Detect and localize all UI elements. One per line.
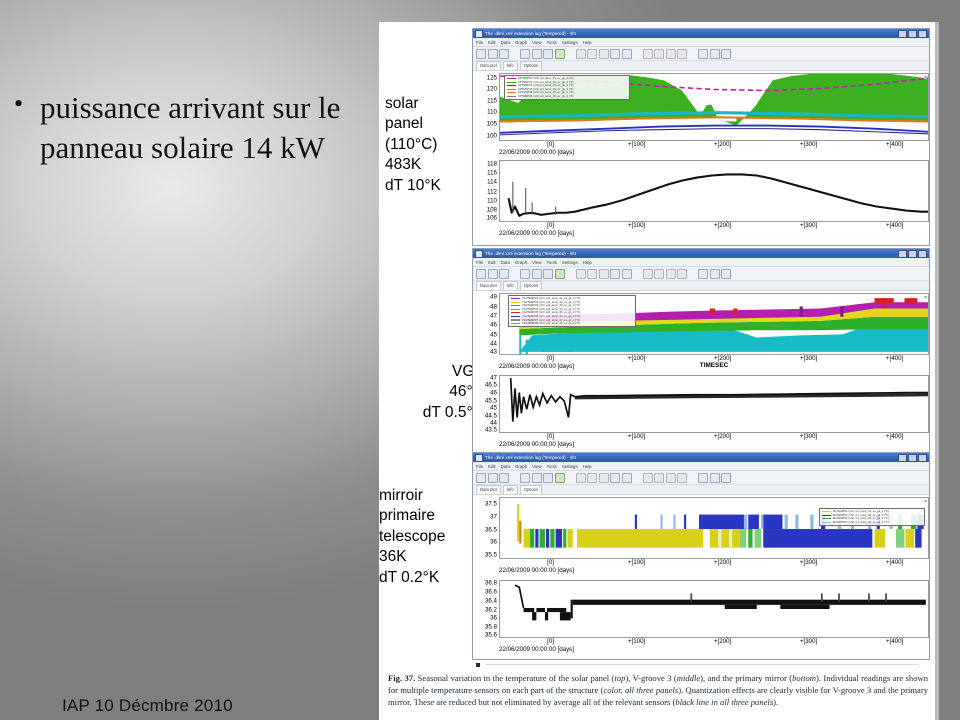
x-tick: +[100] (628, 559, 645, 566)
tab-options[interactable]: Options (520, 61, 542, 70)
zoom-in-icon[interactable] (587, 49, 597, 59)
x-axis-date-label: 22/06/2009 00:00:00 [days] (499, 149, 929, 156)
stripe (546, 529, 549, 548)
tool-bar[interactable] (473, 471, 929, 485)
print-icon[interactable] (499, 49, 509, 59)
menu-item-graph[interactable]: Graph (515, 464, 527, 469)
legend-swatch (511, 323, 520, 324)
toolbar-separator (689, 50, 697, 58)
chart-primary-mirror-average: 36.8 36.6 36.4 36.2 36 35.8 35.6 (473, 580, 929, 638)
strip-line (486, 664, 919, 665)
app-window-vgroove3[interactable]: The .dlm/.xml extension lag (Tempered) -… (472, 248, 930, 456)
yellow-band (567, 529, 572, 548)
toolbar-separator (511, 270, 519, 278)
zoom-in-icon[interactable] (587, 473, 597, 483)
stripe (563, 529, 566, 548)
menu-item-settings[interactable]: Settings (562, 464, 578, 469)
x-tick: +[200] (714, 433, 731, 440)
title-bar[interactable]: The .dlm/.xml extension lag (Tempered) -… (473, 453, 929, 462)
y-tick: 36.5 (485, 527, 497, 534)
minimize-button[interactable] (898, 454, 907, 462)
prev-frame-icon[interactable] (654, 269, 664, 279)
y-tick: 37.5 (485, 501, 497, 508)
toolbar-separator (689, 270, 697, 278)
zoom-out-icon[interactable] (599, 269, 609, 279)
tab-data-plot[interactable]: Data plot (476, 485, 501, 494)
legend-item: M1TEMP03 (mV) m1_temp_03_ev_gk_2 [°K] (822, 517, 922, 520)
yellow-band (906, 529, 915, 548)
menu-item-view[interactable]: View (532, 40, 541, 45)
x-tick: [0] (547, 433, 554, 440)
thin-tick (684, 515, 686, 529)
caption-italic-color: color, all three panels (603, 685, 678, 695)
copy-icon[interactable] (520, 269, 530, 279)
toolbar-separator (566, 270, 574, 278)
legend-swatch (507, 96, 516, 97)
menu-item-help[interactable]: Help (583, 40, 592, 45)
legend-label: M1TEMP01 (mV) m1_temp_01_ev_gk_2 [°K] (833, 510, 889, 513)
caption-text-2: ), V-groove 3 ( (625, 673, 676, 683)
y-tick: 106 (487, 215, 497, 222)
y-tick: 48 (490, 303, 497, 310)
y-tick: 118 (487, 160, 497, 167)
plot-area[interactable] (499, 160, 929, 222)
quantized-segment (536, 608, 545, 612)
tool-bar[interactable] (473, 267, 929, 281)
blue-block (763, 529, 872, 548)
legend-item: M1TEMP01 (mV) m1_temp_01_ev_gk_2 [°K] (822, 510, 922, 513)
menu-item-edit[interactable]: Edit (488, 40, 496, 45)
y-tick: 36.2 (485, 606, 497, 613)
y-axis: 118 116 114 112 110 108 106 (473, 160, 499, 222)
menu-item-view[interactable]: View (532, 260, 541, 265)
title-bar[interactable]: The .dlm/.xml extension lag (Tempered) -… (473, 29, 929, 38)
first-frame-icon[interactable] (643, 49, 653, 59)
next-frame-icon[interactable] (666, 473, 676, 483)
red-spike (883, 298, 885, 308)
menu-item-edit[interactable]: Edit (488, 260, 496, 265)
y-tick: 44 (490, 340, 497, 347)
window-body: 37.5 37 36.5 36 35.5 (473, 495, 929, 653)
menu-item-help[interactable]: Help (583, 260, 592, 265)
menu-item-tools[interactable]: Tools (547, 260, 557, 265)
run-icon[interactable] (555, 269, 565, 279)
menu-item-graph[interactable]: Graph (515, 260, 527, 265)
y-axis: 125 120 115 110 105 100 (473, 73, 499, 141)
cursor-icon[interactable] (576, 473, 586, 483)
y-tick: 36 (490, 539, 497, 546)
x-tick: +[100] (628, 638, 645, 645)
menu-item-tools[interactable]: Tools (547, 40, 557, 45)
strip-text (925, 663, 926, 667)
export-icon[interactable] (721, 269, 731, 279)
legend-label: VG3TEMP05 (mV) vg3_temp_05_ev_gk_2 [°K] (522, 311, 580, 314)
x-tick: +[400] (886, 638, 903, 645)
paste-icon[interactable] (532, 473, 542, 483)
legend-swatch (507, 78, 516, 79)
export-icon[interactable] (721, 473, 731, 483)
legend-label: M1TEMP03 (mV) m1_temp_03_ev_gk_2 [°K] (833, 517, 889, 520)
tab-bar[interactable]: Data plot Info Options (473, 485, 929, 495)
y-tick: 116 (487, 170, 497, 177)
y-axis: 36.8 36.6 36.4 36.2 36 35.8 35.6 (473, 580, 499, 638)
menu-bar[interactable]: File Edit Data Graph View Tools Settings… (473, 38, 929, 47)
spike (800, 306, 803, 316)
run-icon[interactable] (555, 473, 565, 483)
x-axis: [0] +[100] +[200] +[300] +[400] (499, 222, 929, 231)
chart-vgroove3-color: 49 48 47 46 45 44 43 (473, 293, 929, 355)
save-icon[interactable] (488, 49, 498, 59)
spike (513, 182, 556, 215)
close-button[interactable] (918, 454, 927, 462)
legend-label: SPTEMP05 (mV) sol_temp_05_ev_gk_2 [°K] (518, 91, 573, 94)
x-tick: +[400] (886, 141, 903, 148)
x-tick: [0] (547, 559, 554, 566)
y-tick: 36.6 (485, 589, 497, 596)
caption-italic-black: black line in all three panels (675, 697, 773, 707)
toolbar-separator (566, 50, 574, 58)
x-tick: +[200] (714, 222, 731, 229)
x-tick: +[300] (800, 222, 817, 229)
table-icon[interactable] (622, 269, 632, 279)
open-icon[interactable] (476, 473, 486, 483)
legend-swatch (507, 89, 516, 90)
last-frame-icon[interactable] (677, 269, 687, 279)
menu-item-file[interactable]: File (476, 40, 483, 45)
slide: • puissance arrivant sur le panneau sola… (0, 0, 960, 720)
quantized-dip (532, 612, 536, 620)
layout-icon[interactable] (710, 473, 720, 483)
print-icon[interactable] (499, 473, 509, 483)
first-frame-icon[interactable] (643, 269, 653, 279)
thin-tick (661, 515, 663, 529)
tab-bar[interactable]: Data plot Info Options (473, 281, 929, 291)
legend-item: SPTEMP01 (mV) sol_temp_01_ev_gk_2 [°K] (507, 77, 627, 80)
quantized-segment (780, 605, 829, 609)
blue-block-upper (748, 515, 759, 529)
noise (543, 342, 575, 352)
next-frame-icon[interactable] (666, 49, 676, 59)
x-axis: [0] +[100] +[200] +[300] +[400] (499, 141, 929, 150)
green-gap (896, 529, 905, 548)
next-frame-icon[interactable] (666, 269, 676, 279)
x-tick: [0] (547, 222, 554, 229)
chart-icon[interactable] (698, 49, 708, 59)
legend-swatch (507, 85, 516, 86)
copy-icon[interactable] (520, 49, 530, 59)
app-window-primary-mirror[interactable]: The .dlm/.xml extension lag (Tempered) -… (472, 452, 930, 660)
x-tick: +[300] (800, 141, 817, 148)
layout-icon[interactable] (710, 49, 720, 59)
legend-label: VG3TEMP08 (mV) vg3_temp_08_ev_gk_2 [°K] (522, 322, 580, 325)
paste-icon[interactable] (532, 49, 542, 59)
chart-vgroove3-average: 47 46.5 46 45.5 45 44.5 44 43.5 (473, 375, 929, 433)
zoom-in-icon[interactable] (587, 269, 597, 279)
title-bar[interactable]: The .dlm/.xml extension lag (Tempered) -… (473, 249, 929, 258)
plot-area[interactable]: × M1TEMP01 (mV) m1_temp_01_ev_gk_2 [°K] … (499, 497, 929, 559)
window-title: The .dlm/.xml extension lag (Tempered) -… (485, 251, 576, 256)
y-tick: 36.4 (485, 597, 497, 604)
cut-icon[interactable] (543, 473, 553, 483)
lightblue-stripe (785, 515, 788, 529)
legend-label: VG3TEMP03 (mV) vg3_temp_03_ev_gk_2 [°K] (522, 304, 580, 307)
toolbar-separator (689, 474, 697, 482)
x-tick: +[400] (886, 559, 903, 566)
x-tick: +[200] (714, 141, 731, 148)
plot-area[interactable]: × SPTEMP01 (mV) sol_temp_01_ev_gk_2 [°K]… (499, 73, 929, 141)
y-tick: 46 (490, 322, 497, 329)
prev-frame-icon[interactable] (654, 49, 664, 59)
x-axis-date-label: 22/06/2009 00:00:00 [days] (499, 441, 929, 448)
chart-legend[interactable]: VG3TEMP01 (mV) vg3_temp_01_ev_gk_2 [°K] … (508, 295, 636, 327)
quantized-segment (725, 605, 757, 609)
menu-item-edit[interactable]: Edit (488, 464, 496, 469)
gap (729, 529, 732, 548)
x-tick: +[300] (800, 355, 817, 362)
x-axis-date-label: 22/06/2009 00:00:00 [days] (499, 567, 929, 574)
grid-icon[interactable] (610, 473, 620, 483)
cut-icon[interactable] (543, 269, 553, 279)
caption-text-3: ), and the primary mirror ( (700, 673, 792, 683)
y-tick: 108 (487, 207, 497, 214)
chart-legend[interactable]: SPTEMP01 (mV) sol_temp_01_ev_gk_2 [°K] S… (504, 75, 630, 100)
y-tick: 36 (490, 615, 497, 622)
legend-item: VG3TEMP06 (mV) vg3_temp_06_ev_gk_2 [°K] (511, 315, 633, 318)
copy-icon[interactable] (520, 473, 530, 483)
plot-area[interactable]: × VG3TEMP01 (mV) vg3_temp_01_ev_gk_2 [°K… (499, 293, 929, 355)
stripe (519, 521, 521, 544)
spike (690, 593, 692, 601)
close-button[interactable] (918, 250, 927, 258)
menu-item-settings[interactable]: Settings (562, 40, 578, 45)
thin-tick (635, 515, 637, 529)
x-tick: [0] (547, 638, 554, 645)
tab-info[interactable]: Info (503, 281, 518, 290)
y-tick: 46 (490, 389, 497, 396)
menu-item-graph[interactable]: Graph (515, 40, 527, 45)
tab-data-plot[interactable]: Data plot (476, 61, 501, 70)
x-axis: [0] +[100] +[200] +[300] +[400] (499, 433, 929, 442)
figure-right-edge (935, 22, 939, 720)
x-tick: +[400] (886, 222, 903, 229)
save-icon[interactable] (488, 473, 498, 483)
red-spike (710, 308, 715, 313)
thin-tick (673, 515, 675, 529)
y-tick: 46.5 (485, 382, 497, 389)
x-axis: [0] +[100] +[200] +[300] +[400] (499, 559, 929, 568)
spike (821, 593, 823, 601)
zoom-out-icon[interactable] (599, 473, 609, 483)
lightblue-stripe (795, 515, 798, 529)
run-icon[interactable] (555, 49, 565, 59)
last-frame-icon[interactable] (677, 473, 687, 483)
y-tick: 44 (490, 420, 497, 427)
minimize-button[interactable] (898, 30, 907, 38)
average-line (509, 174, 928, 215)
tool-bar[interactable] (473, 47, 929, 61)
toolbar-separator (633, 474, 641, 482)
minimize-button[interactable] (898, 250, 907, 258)
app-icon (475, 454, 483, 462)
paste-icon[interactable] (532, 269, 542, 279)
x-axis: [0] +[100] +[200] +[300] +[400] (499, 355, 929, 364)
cursor-marker: × (924, 75, 927, 81)
x-tick: +[200] (714, 355, 731, 362)
legend-item: SPTEMP05 (mV) sol_temp_05_ev_gk_2 [°K] (507, 91, 627, 94)
table-icon[interactable] (622, 473, 632, 483)
x-tick: [0] (547, 141, 554, 148)
y-tick: 47 (490, 374, 497, 381)
x-axis: [0] +[100] +[200] +[300] +[400] (499, 638, 929, 647)
legend-swatch (507, 92, 516, 93)
y-axis: 37.5 37 36.5 36 35.5 (473, 497, 499, 559)
cut-icon[interactable] (543, 49, 553, 59)
y-tick: 115 (487, 97, 497, 104)
plot-area[interactable] (499, 580, 929, 638)
x-axis-date-label: 22/06/2009 00:00:00 [days] (499, 646, 929, 653)
maximize-button[interactable] (908, 454, 917, 462)
menu-item-settings[interactable]: Settings (562, 260, 578, 265)
x-axis-date-label: 22/06/2009 00:00:00 [days] (499, 230, 929, 237)
tab-info[interactable]: Info (503, 61, 518, 70)
cursor-marker: × (924, 295, 927, 301)
app-icon (475, 250, 483, 258)
last-frame-icon[interactable] (677, 49, 687, 59)
grid-icon[interactable] (610, 269, 620, 279)
save-icon[interactable] (488, 269, 498, 279)
x-tick: +[300] (800, 638, 817, 645)
menu-item-help[interactable]: Help (583, 464, 592, 469)
legend-label: SPTEMP03 (mV) sol_temp_03_ev_gk_2 [°K] (518, 84, 573, 87)
chart-solar-panel-average: 118 116 114 112 110 108 106 (473, 160, 929, 222)
maximize-button[interactable] (908, 250, 917, 258)
chart-icon[interactable] (698, 473, 708, 483)
y-tick: 114 (487, 179, 497, 186)
table-icon[interactable] (622, 49, 632, 59)
chart-legend[interactable]: M1TEMP01 (mV) m1_temp_01_ev_gk_2 [°K] M1… (819, 508, 925, 526)
zoom-out-icon[interactable] (599, 49, 609, 59)
y-tick: 45 (490, 405, 497, 412)
yellow-band (524, 529, 530, 548)
window-body: 49 48 47 46 45 44 43 (473, 291, 929, 448)
toolbar-separator (511, 50, 519, 58)
legend-swatch (511, 312, 520, 313)
stripe (535, 529, 538, 548)
green-gap (748, 529, 752, 548)
tab-options[interactable]: Options (520, 281, 542, 290)
spike (868, 593, 870, 601)
tab-options[interactable]: Options (520, 485, 542, 494)
legend-label: M1TEMP04 (mV) m1_temp_04_ev_gk_2 [°K] (833, 521, 889, 524)
yellow-band (875, 529, 886, 548)
layout-icon[interactable] (710, 269, 720, 279)
bullet-paragraph: • puissance arrivant sur le panneau sola… (14, 88, 374, 167)
y-tick: 35.6 (485, 631, 497, 638)
x-tick: +[100] (628, 433, 645, 440)
tab-bar[interactable]: Data plot Info Options (473, 61, 929, 71)
yellow-band (710, 529, 740, 548)
cursor-icon[interactable] (576, 49, 586, 59)
caption-text-1: Seasonal variation in the temperature of… (418, 673, 615, 683)
print-icon[interactable] (499, 269, 509, 279)
maximize-button[interactable] (908, 30, 917, 38)
legend-swatch (511, 316, 520, 317)
x-tick: +[200] (714, 559, 731, 566)
open-icon[interactable] (476, 49, 486, 59)
menu-item-file[interactable]: File (476, 260, 483, 265)
legend-item: SPTEMP03 (mV) sol_temp_03_ev_gk_2 [°K] (507, 84, 627, 87)
bullet-marker: • (14, 88, 40, 167)
tab-info[interactable]: Info (503, 485, 518, 494)
plot-area[interactable] (499, 375, 929, 433)
y-tick: 35.8 (485, 623, 497, 630)
export-icon[interactable] (721, 49, 731, 59)
window-title: The .dlm/.xml extension lag (Tempered) -… (485, 455, 576, 460)
legend-label: VG3TEMP01 (mV) vg3_temp_01_ev_gk_2 [°K] (522, 297, 580, 300)
y-axis: 47 46.5 46 45.5 45 44.5 44 43.5 (473, 375, 499, 433)
app-window-solar-panel[interactable]: The .dlm/.xml extension lag (Tempered) -… (472, 28, 930, 246)
red-spike (733, 308, 737, 313)
legend-swatch (511, 305, 520, 306)
first-frame-icon[interactable] (643, 473, 653, 483)
legend-item: VG3TEMP08 (mV) vg3_temp_08_ev_gk_2 [°K] (511, 322, 633, 325)
chart-solar-panel-color: 125 120 115 110 105 100 (473, 73, 929, 141)
prev-frame-icon[interactable] (654, 473, 664, 483)
quantized-dip (560, 612, 571, 620)
cursor-icon[interactable] (576, 269, 586, 279)
chart-icon[interactable] (698, 269, 708, 279)
stripe (517, 504, 519, 541)
menu-item-data[interactable]: Data (501, 40, 510, 45)
legend-swatch (511, 309, 520, 310)
window-body: 125 120 115 110 105 100 (473, 71, 929, 237)
blue-block-upper (699, 515, 744, 529)
lightblue-stripe (744, 515, 747, 529)
y-tick: 47 (490, 312, 497, 319)
legend-swatch (822, 522, 831, 523)
menu-item-data[interactable]: Data (501, 464, 510, 469)
legend-item: SPTEMP06 (mV) sol_temp_06_ev_gk_2 [°K] (507, 95, 627, 98)
spike (885, 593, 887, 601)
caption-text-6: ). (773, 697, 778, 707)
x-tick: +[100] (628, 222, 645, 229)
menu-item-view[interactable]: View (532, 464, 541, 469)
tab-data-plot[interactable]: Data plot (476, 281, 501, 290)
strip-marker (476, 663, 480, 667)
noise (519, 335, 521, 354)
menu-item-data[interactable]: Data (501, 260, 510, 265)
legend-swatch (822, 511, 831, 512)
menu-bar[interactable]: File Edit Data Graph View Tools Settings… (473, 462, 929, 471)
stripe (556, 529, 562, 548)
menu-item-tools[interactable]: Tools (547, 464, 557, 469)
gap (887, 529, 896, 548)
spike (838, 593, 840, 601)
y-tick: 100 (487, 132, 497, 139)
menu-bar[interactable]: File Edit Data Graph View Tools Settings… (473, 258, 929, 267)
grid-icon[interactable] (610, 49, 620, 59)
menu-item-file[interactable]: File (476, 464, 483, 469)
legend-swatch (822, 515, 831, 516)
x-tick: +[400] (886, 355, 903, 362)
y-tick: 110 (487, 109, 497, 116)
close-button[interactable] (918, 30, 927, 38)
toolbar-separator (633, 50, 641, 58)
legend-item: VG3TEMP05 (mV) vg3_temp_05_ev_gk_2 [°K] (511, 311, 633, 314)
figure-panel: solar panel (110°C) 483K dT 10°K VG3 46°… (379, 22, 935, 720)
slide-footer: IAP 10 Décmbre 2010 (62, 696, 233, 716)
open-icon[interactable] (476, 269, 486, 279)
